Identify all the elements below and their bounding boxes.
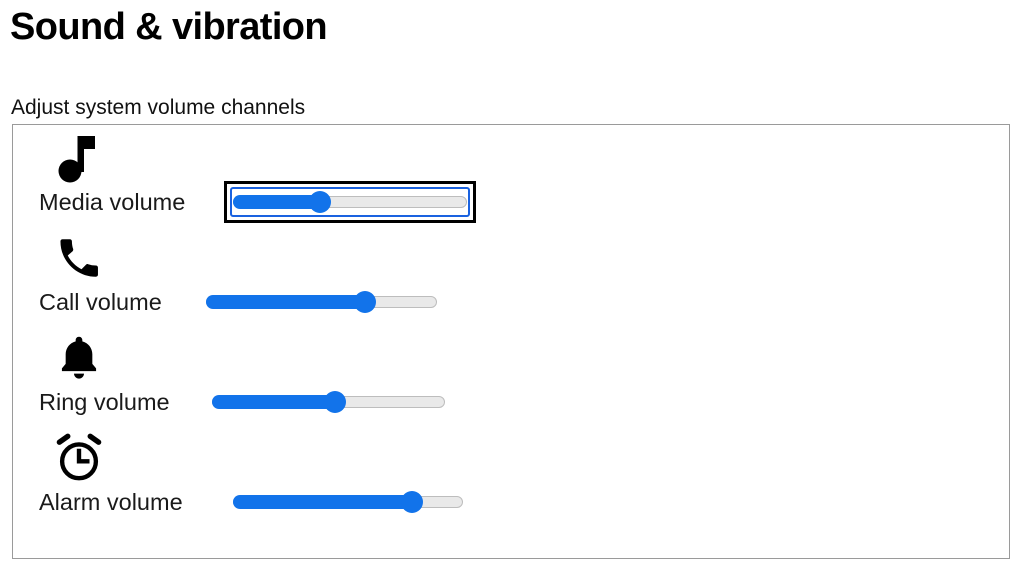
volume-row-label-alarm: Alarm volume — [39, 485, 183, 519]
section-subtitle: Adjust system volume channels — [11, 95, 305, 121]
volume-panel: Media volume Call volume — [12, 124, 1010, 559]
phone-icon — [53, 233, 105, 283]
volume-row-label-ring: Ring volume — [39, 385, 170, 419]
slider-call[interactable] — [206, 289, 437, 315]
slider-media[interactable] — [233, 189, 467, 215]
volume-row-alarm: Alarm volume — [13, 427, 1009, 527]
slider-thumb-call[interactable] — [354, 291, 376, 313]
slider-ring[interactable] — [212, 389, 445, 415]
slider-thumb-alarm[interactable] — [401, 491, 423, 513]
volume-row-label-media: Media volume — [39, 185, 185, 219]
page-title: Sound & vibration — [10, 4, 327, 50]
slider-thumb-media[interactable] — [309, 191, 331, 213]
slider-fill-media — [233, 195, 320, 209]
music-note-icon — [53, 133, 105, 183]
alarm-clock-icon — [53, 433, 105, 483]
volume-row-label-call: Call volume — [39, 285, 162, 319]
slider-fill-alarm — [233, 495, 412, 509]
slider-fill-call — [206, 295, 365, 309]
slider-fill-ring — [212, 395, 335, 409]
volume-row-ring: Ring volume — [13, 327, 1009, 427]
volume-row-media: Media volume — [13, 127, 1009, 227]
volume-row-call: Call volume — [13, 227, 1009, 327]
bell-icon — [53, 333, 105, 383]
slider-alarm[interactable] — [233, 489, 463, 515]
slider-thumb-ring[interactable] — [324, 391, 346, 413]
